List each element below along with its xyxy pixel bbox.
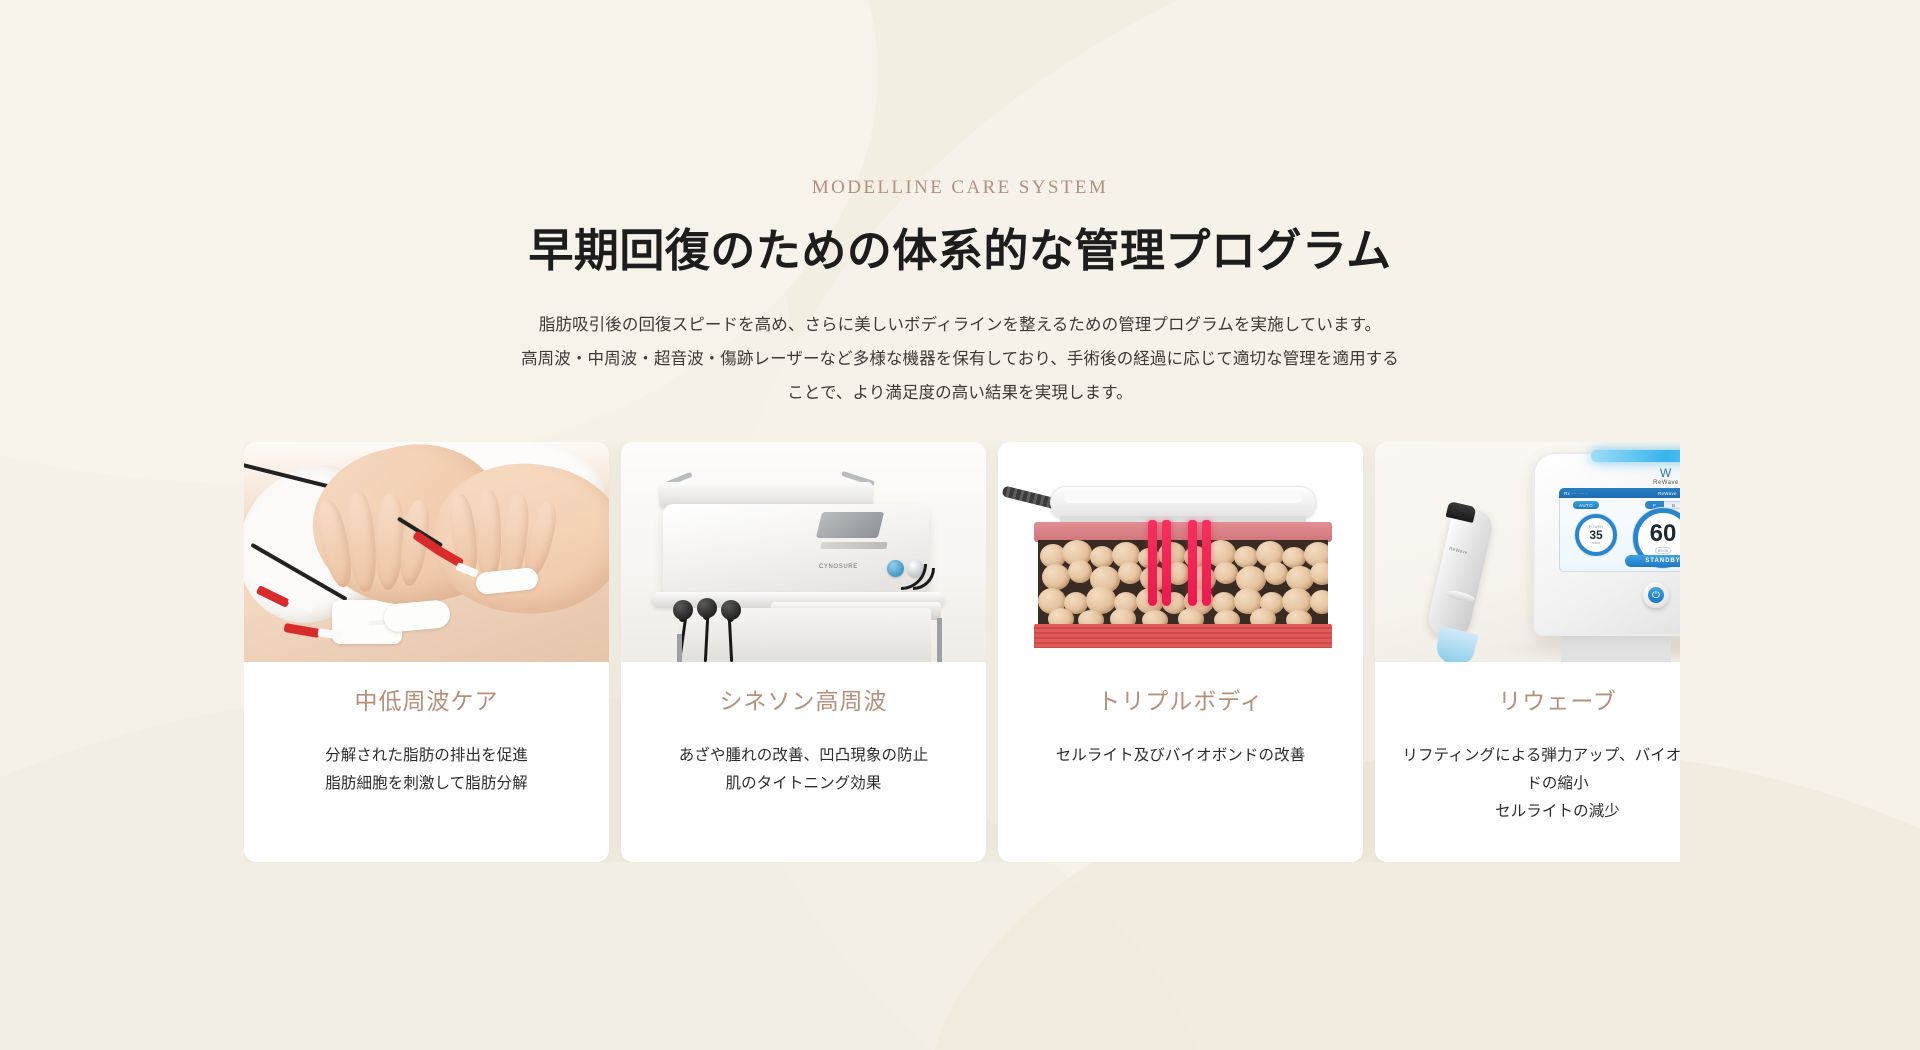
card-title: シネソン高周波 (643, 688, 964, 716)
screen-status-bar: Rx ··· ··· · ReWave Status (1559, 488, 1680, 498)
card-description: あざや腫れの改善、凹凸現象の防止 肌のタイトニング効果 (643, 742, 964, 798)
energy-beam (1148, 520, 1157, 606)
card-carousel-track[interactable]: 中低周波ケア 分解された脂肪の排出を促進 脂肪細胞を刺激して脂肪分解 CYNOS… (244, 442, 1680, 862)
card-title: 中低周波ケア (266, 688, 587, 716)
card-body: シネソン高周波 あざや腫れの改善、凹凸現象の防止 肌のタイトニング効果 (621, 662, 986, 862)
status-left: Rx ··· ··· · (1564, 491, 1587, 496)
section-header: MODELLINE CARE SYSTEM 早期回復のための体系的な管理プログラ… (0, 0, 1920, 411)
power-icon: ⏻ (1648, 587, 1664, 603)
card-title: リウェーブ (1397, 688, 1680, 716)
power-dial-unit: mbar (1592, 541, 1601, 545)
card-body: トリプルボディ セルライト及びバイオボンドの改善 (998, 662, 1363, 862)
energy-beam (1188, 520, 1197, 606)
handpiece-tip (1434, 626, 1479, 662)
card-description: 分解された脂肪の排出を促進 脂肪細胞を刺激して脂肪分解 (266, 742, 587, 798)
power-button[interactable]: ⏻ (1643, 582, 1669, 608)
power-dial[interactable]: POWER 35 mbar (1575, 514, 1617, 556)
card-description: セルライト及びバイオボンドの改善 (1020, 742, 1341, 770)
machine-brand-label: CYNOSURE (819, 564, 858, 570)
auto-pill[interactable]: AUTO (1573, 501, 1599, 509)
card-image (998, 442, 1363, 662)
section-description: 脂肪吸引後の回復スピードを高め、さらに美しいボディラインを整えるための管理プログ… (0, 309, 1920, 410)
rewave-device-photo: W ReWave Rx ··· ··· · ReWave Status AUTO (1375, 442, 1680, 662)
card-body: リウェーブ リフティングによる弾力アップ、バイオボンドの縮小 セルライトの減少 (1375, 662, 1680, 862)
rewave-mark: W (1621, 466, 1680, 480)
frequency-dial-value: 60 (1650, 522, 1677, 546)
page-title: 早期回復のための体系的な管理プログラム (0, 223, 1920, 279)
description-line-1: 脂肪吸引後の回復スピードを高め、さらに美しいボディラインを整えるための管理プログ… (0, 309, 1920, 343)
fat-tissue-cross-section-illustration (998, 442, 1363, 662)
description-line-3: ことで、より満足度の高い結果を実現します。 (0, 377, 1920, 411)
card-image: W ReWave Rx ··· ··· · ReWave Status AUTO (1375, 442, 1680, 662)
card-item[interactable]: W ReWave Rx ··· ··· · ReWave Status AUTO (1375, 442, 1680, 862)
card-image (244, 442, 609, 662)
frequency-dial-timer: 00:00 (1655, 547, 1671, 554)
page-root: MODELLINE CARE SYSTEM 早期回復のための体系的な管理プログラ… (0, 0, 1920, 1050)
card-carousel-viewport: 中低周波ケア 分解された脂肪の排出を促進 脂肪細胞を刺激して脂肪分解 CYNOS… (244, 442, 1680, 862)
card-item[interactable]: CYNOSURE (621, 442, 986, 862)
fat-cell-cluster (1038, 540, 1328, 626)
card-item[interactable]: トリプルボディ セルライト及びバイオボンドの改善 (998, 442, 1363, 862)
card-body: 中低周波ケア 分解された脂肪の排出を促進 脂肪細胞を刺激して脂肪分解 (244, 662, 609, 862)
description-line-2: 高周波・中周波・超音波・傷跡レーザーなど多様な機器を保有しており、手術後の経過に… (0, 343, 1920, 377)
rewave-brand-name: ReWave (1621, 480, 1680, 486)
status-center: ReWave (1658, 491, 1677, 496)
card-image: CYNOSURE (621, 442, 986, 662)
card-description: リフティングによる弾力アップ、バイオボンドの縮小 セルライトの減少 (1397, 742, 1680, 827)
device-brand-logo: W ReWave (1621, 466, 1680, 486)
card-item[interactable]: 中低周波ケア 分解された脂肪の排出を促進 脂肪細胞を刺激して脂肪分解 (244, 442, 609, 862)
energy-beam (1162, 520, 1171, 606)
electrode-pads-on-back-photo (244, 442, 609, 662)
rf-machine-on-cart-photo: CYNOSURE (621, 442, 986, 662)
section-eyebrow: MODELLINE CARE SYSTEM (0, 178, 1920, 197)
standby-button[interactable]: STANDBY (1625, 555, 1680, 567)
energy-beam (1202, 520, 1211, 606)
device-led-strip (1591, 450, 1680, 462)
handpiece (1425, 505, 1496, 643)
card-title: トリプルボディ (1020, 688, 1341, 716)
device-touchscreen[interactable]: Rx ··· ··· · ReWave Status AUTO F B RESE… (1559, 488, 1680, 572)
power-dial-value: 35 (1589, 529, 1602, 541)
